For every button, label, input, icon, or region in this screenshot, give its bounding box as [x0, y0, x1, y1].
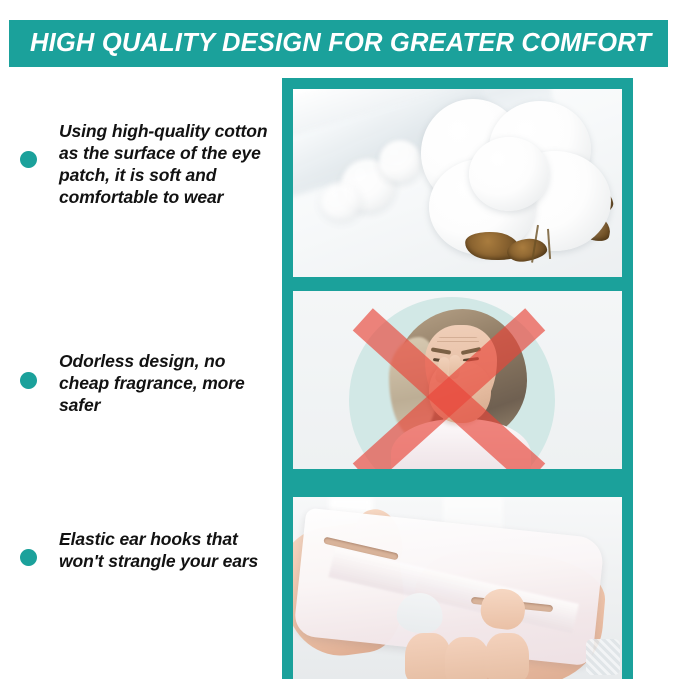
- feature-item-cotton-surface: Using high-quality cotton as the surface…: [0, 120, 282, 208]
- cotton-boll: [469, 137, 549, 211]
- finger: [448, 355, 461, 380]
- photo-hands-holding-mask: [293, 497, 622, 679]
- finger: [485, 633, 529, 679]
- photo-cotton-bolls: [293, 89, 622, 277]
- feature-text: Elastic ear hooks that won't strangle yo…: [59, 528, 274, 572]
- cotton-boll-background: [379, 140, 421, 182]
- photo-frame: [282, 78, 633, 679]
- feature-text: Odorless design, no cheap fragrance, mor…: [59, 350, 274, 416]
- cotton-boll-background: [321, 184, 361, 220]
- bullet-dot-icon: [20, 151, 37, 168]
- header-banner: HIGH QUALITY DESIGN FOR GREATER COMFORT: [9, 20, 668, 67]
- woman-figure: [385, 299, 535, 469]
- feature-text: Using high-quality cotton as the surface…: [59, 120, 274, 208]
- mask-texture-edge: [586, 639, 620, 675]
- odor-scene: [293, 291, 622, 469]
- cotton-scene: [293, 89, 622, 277]
- feature-item-odorless: Odorless design, no cheap fragrance, mor…: [0, 350, 282, 416]
- forehead-wrinkles: [437, 337, 479, 345]
- finger: [445, 637, 489, 679]
- feature-item-elastic-ear-hooks: Elastic ear hooks that won't strangle yo…: [0, 528, 282, 572]
- mask-scene: [293, 497, 622, 679]
- product-feature-infographic: HIGH QUALITY DESIGN FOR GREATER COMFORT …: [0, 0, 679, 679]
- feature-list: Using high-quality cotton as the surface…: [0, 78, 282, 679]
- photo-odor-crossed-out: [293, 291, 622, 469]
- bullet-dot-icon: [20, 372, 37, 389]
- mask-fold: [328, 548, 578, 633]
- bullet-dot-icon: [20, 549, 37, 566]
- page-title: HIGH QUALITY DESIGN FOR GREATER COMFORT: [30, 29, 651, 58]
